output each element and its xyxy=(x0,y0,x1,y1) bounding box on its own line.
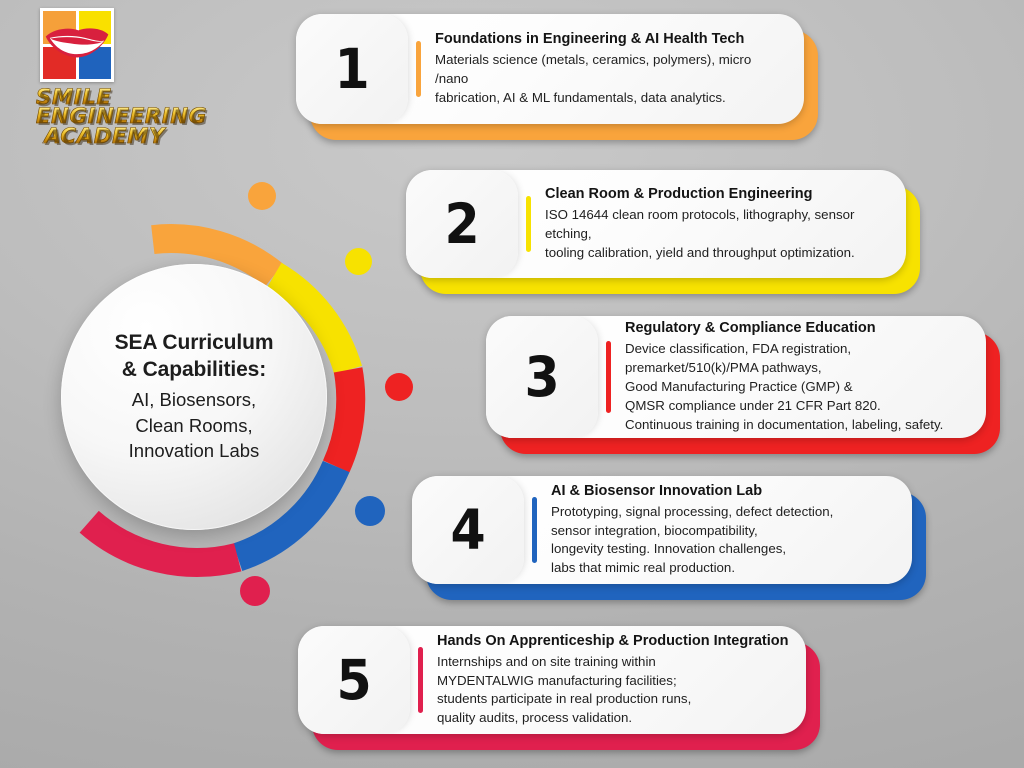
card-4-number-pad: 4 xyxy=(412,476,524,584)
arc-red xyxy=(336,370,351,467)
logo-mark xyxy=(40,8,114,82)
center-heading-line-1: SEA Curriculum xyxy=(115,330,274,357)
curriculum-card-2[interactable]: 2 Clean Room & Production Engineering IS… xyxy=(406,170,906,278)
center-heading: SEA Curriculum & Capabilities: xyxy=(115,330,274,384)
center-heading-line-2: & Capabilities: xyxy=(115,357,274,384)
card-1-description: Materials science (metals, ceramics, pol… xyxy=(435,51,788,108)
card-4-title: AI & Biosensor Innovation Lab xyxy=(551,482,896,501)
curriculum-card-1[interactable]: 1 Foundations in Engineering & AI Health… xyxy=(296,14,804,124)
card-3-number: 3 xyxy=(524,350,559,405)
center-summary-circle: SEA Curriculum & Capabilities: AI, Biose… xyxy=(61,264,327,530)
center-subtext: AI, Biosensors, Clean Rooms, Innovation … xyxy=(129,387,260,464)
logo-wordmark: SMILE ENGINEERING ACADEMY xyxy=(38,88,246,146)
red-dot xyxy=(385,373,413,401)
curriculum-card-5[interactable]: 5 Hands On Apprenticeship & Production I… xyxy=(298,626,806,734)
card-5-title: Hands On Apprenticeship & Production Int… xyxy=(437,632,790,651)
center-sub-line-1: AI, Biosensors, xyxy=(129,387,260,413)
card-2-number: 2 xyxy=(444,197,479,252)
smiling-lips-icon xyxy=(43,27,111,60)
card-3-title: Regulatory & Compliance Education xyxy=(625,319,970,338)
card-1-number-pad: 1 xyxy=(296,14,408,124)
card-2-description: ISO 14644 clean room protocols, lithogra… xyxy=(545,206,890,263)
center-sub-line-2: Clean Rooms, xyxy=(129,413,260,439)
card-5-surface[interactable]: 5 Hands On Apprenticeship & Production I… xyxy=(298,626,806,734)
card-1-number: 1 xyxy=(334,42,369,97)
card-4-description: Prototyping, signal processing, defect d… xyxy=(551,503,896,579)
card-1-surface[interactable]: 1 Foundations in Engineering & AI Health… xyxy=(296,14,804,124)
crimson-dot xyxy=(240,576,270,606)
curriculum-wheel: SEA Curriculum & Capabilities: AI, Biose… xyxy=(52,168,412,598)
orange-dot xyxy=(248,182,276,210)
card-3-surface[interactable]: 3 Regulatory & Compliance Education Devi… xyxy=(486,316,986,438)
card-2-body: Clean Room & Production Engineering ISO … xyxy=(531,170,906,278)
brand-logo: SMILE ENGINEERING ACADEMY xyxy=(36,8,246,146)
card-4-body: AI & Biosensor Innovation Lab Prototypin… xyxy=(537,476,912,584)
card-5-number-pad: 5 xyxy=(298,626,410,734)
card-2-number-pad: 2 xyxy=(406,170,518,278)
card-5-description: Internships and on site training within … xyxy=(437,653,790,729)
curriculum-card-4[interactable]: 4 AI & Biosensor Innovation Lab Prototyp… xyxy=(412,476,912,584)
card-2-title: Clean Room & Production Engineering xyxy=(545,185,890,204)
card-2-surface[interactable]: 2 Clean Room & Production Engineering IS… xyxy=(406,170,906,278)
card-5-number: 5 xyxy=(336,653,371,708)
card-5-body: Hands On Apprenticeship & Production Int… xyxy=(423,626,806,734)
card-3-number-pad: 3 xyxy=(486,316,598,438)
card-3-body: Regulatory & Compliance Education Device… xyxy=(611,316,986,438)
yellow-dot xyxy=(345,248,372,275)
blue-dot xyxy=(355,496,385,526)
center-sub-line-3: Innovation Labs xyxy=(129,438,260,464)
curriculum-card-3[interactable]: 3 Regulatory & Compliance Education Devi… xyxy=(486,316,986,438)
card-4-surface[interactable]: 4 AI & Biosensor Innovation Lab Prototyp… xyxy=(412,476,912,584)
card-1-body: Foundations in Engineering & AI Health T… xyxy=(421,14,804,124)
card-3-description: Device classification, FDA registration,… xyxy=(625,340,970,434)
card-1-title: Foundations in Engineering & AI Health T… xyxy=(435,30,788,49)
card-4-number: 4 xyxy=(450,503,485,558)
logo-line-3: ACADEMY xyxy=(44,127,248,146)
